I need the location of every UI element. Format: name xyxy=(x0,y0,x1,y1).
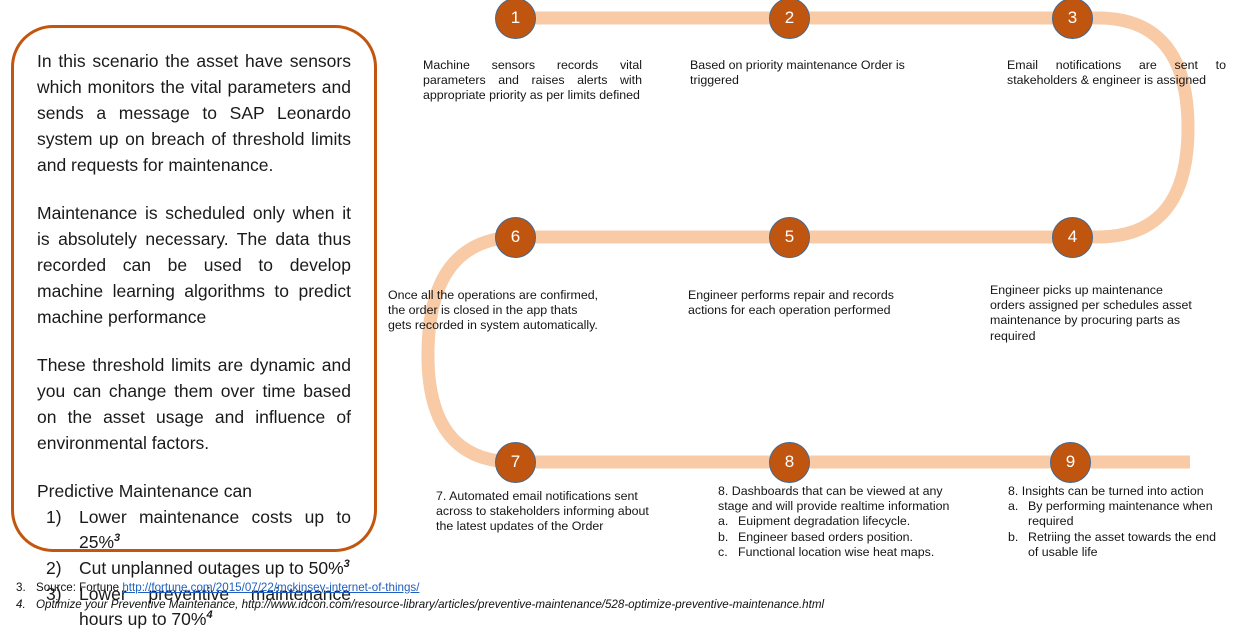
footnote-number: 4. xyxy=(8,597,36,612)
sub-item-marker: b. xyxy=(1008,530,1028,560)
benefit-text: Lower maintenance costs up to 25%3 xyxy=(79,505,351,555)
step-2-description: Based on priority maintenance Order is t… xyxy=(690,58,935,88)
flow-node-7[interactable]: 7 xyxy=(495,442,536,483)
footnote-body: Optimize your Preventive Maintenance, ht… xyxy=(36,597,1008,612)
step-1-description: Machine sensors records vital parameters… xyxy=(423,58,642,104)
flow-node-1[interactable]: 1 xyxy=(495,0,536,39)
flow-node-8[interactable]: 8 xyxy=(769,442,810,483)
step-8-sub-item: a. Euipment degradation lifecycle. xyxy=(718,514,970,529)
benefit-item: 1) Lower maintenance costs up to 25%3 xyxy=(37,505,351,555)
flow-node-9[interactable]: 9 xyxy=(1050,442,1091,483)
step-8-sub-item: b. Engineer based orders position. xyxy=(718,530,970,545)
sub-item-text: Euipment degradation lifecycle. xyxy=(738,514,970,529)
benefit-marker: 2) xyxy=(37,556,79,581)
benefit-label: Lower maintenance costs up to 25% xyxy=(79,507,351,552)
connector-row-2-turn xyxy=(428,237,515,462)
step-3-description: Email notifications are sent to stakehol… xyxy=(1007,58,1226,88)
connector-row-1 xyxy=(515,18,1188,237)
step-9-sub-list: a. By performing maintenance when requir… xyxy=(1008,499,1223,560)
scenario-paragraph-3: These threshold limits are dynamic and y… xyxy=(37,352,351,456)
footnote-number: 3. xyxy=(8,580,36,595)
scenario-paragraph-1: In this scenario the asset have sensors … xyxy=(37,48,351,178)
step-9-sub-item: b. Retriing the asset towards the end of… xyxy=(1008,530,1223,560)
sub-item-marker: b. xyxy=(718,530,738,545)
benefit-marker: 1) xyxy=(37,505,79,555)
step-7-description: 7. Automated email notifications sent ac… xyxy=(436,489,658,535)
step-8-sub-list: a. Euipment degradation lifecycle. b. En… xyxy=(718,514,970,560)
step-9-description: 8. Insights can be turned into action xyxy=(1008,484,1223,499)
footnote-prefix: Source: Fortune xyxy=(36,581,122,594)
predictive-maintenance-heading: Predictive Maintenance can xyxy=(37,478,351,504)
step-8-sub-item: c. Functional location wise heat maps. xyxy=(718,545,970,560)
flow-node-3[interactable]: 3 xyxy=(1052,0,1093,39)
sub-item-marker: c. xyxy=(718,545,738,560)
footnote-body: Source: Fortune http://fortune.com/2015/… xyxy=(36,580,1008,595)
sub-item-marker: a. xyxy=(1008,499,1028,529)
scenario-paragraph-2: Maintenance is scheduled only when it is… xyxy=(37,200,351,330)
step-8-block: 8. Dashboards that can be viewed at any … xyxy=(718,484,970,560)
sub-item-text: Functional location wise heat maps. xyxy=(738,545,970,560)
benefit-text: Cut unplanned outages up to 50%3 xyxy=(79,556,351,581)
step-9-sub-item: a. By performing maintenance when requir… xyxy=(1008,499,1223,529)
flow-node-5[interactable]: 5 xyxy=(769,217,810,258)
flow-node-6[interactable]: 6 xyxy=(495,217,536,258)
benefit-footnote-ref: 3 xyxy=(344,558,350,570)
step-5-description: Engineer performs repair and records act… xyxy=(688,288,900,318)
step-8-description: 8. Dashboards that can be viewed at any … xyxy=(718,484,970,514)
sub-item-text: Engineer based orders position. xyxy=(738,530,970,545)
step-6-description: Once all the operations are confirmed, t… xyxy=(388,288,603,334)
benefit-label: Cut unplanned outages up to 50% xyxy=(79,558,344,578)
flow-node-4[interactable]: 4 xyxy=(1052,217,1093,258)
step-4-description: Engineer picks up maintenance orders ass… xyxy=(990,283,1200,344)
flow-node-2[interactable]: 2 xyxy=(769,0,810,39)
sub-item-marker: a. xyxy=(718,514,738,529)
footnote-link[interactable]: http://fortune.com/2015/07/22/mckinsey-i… xyxy=(122,581,419,594)
step-9-block: 8. Insights can be turned into action a.… xyxy=(1008,484,1223,560)
footnote-row: 3. Source: Fortune http://fortune.com/20… xyxy=(8,580,1008,595)
benefit-footnote-ref: 3 xyxy=(114,532,120,544)
benefit-item: 2) Cut unplanned outages up to 50%3 xyxy=(37,556,351,581)
scenario-callout-box: In this scenario the asset have sensors … xyxy=(11,25,377,552)
sub-item-text: By performing maintenance when required xyxy=(1028,499,1223,529)
footnote-row: 4. Optimize your Preventive Maintenance,… xyxy=(8,597,1008,612)
footnotes: 3. Source: Fortune http://fortune.com/20… xyxy=(8,580,1008,614)
sub-item-text: Retriing the asset towards the end of us… xyxy=(1028,530,1223,560)
